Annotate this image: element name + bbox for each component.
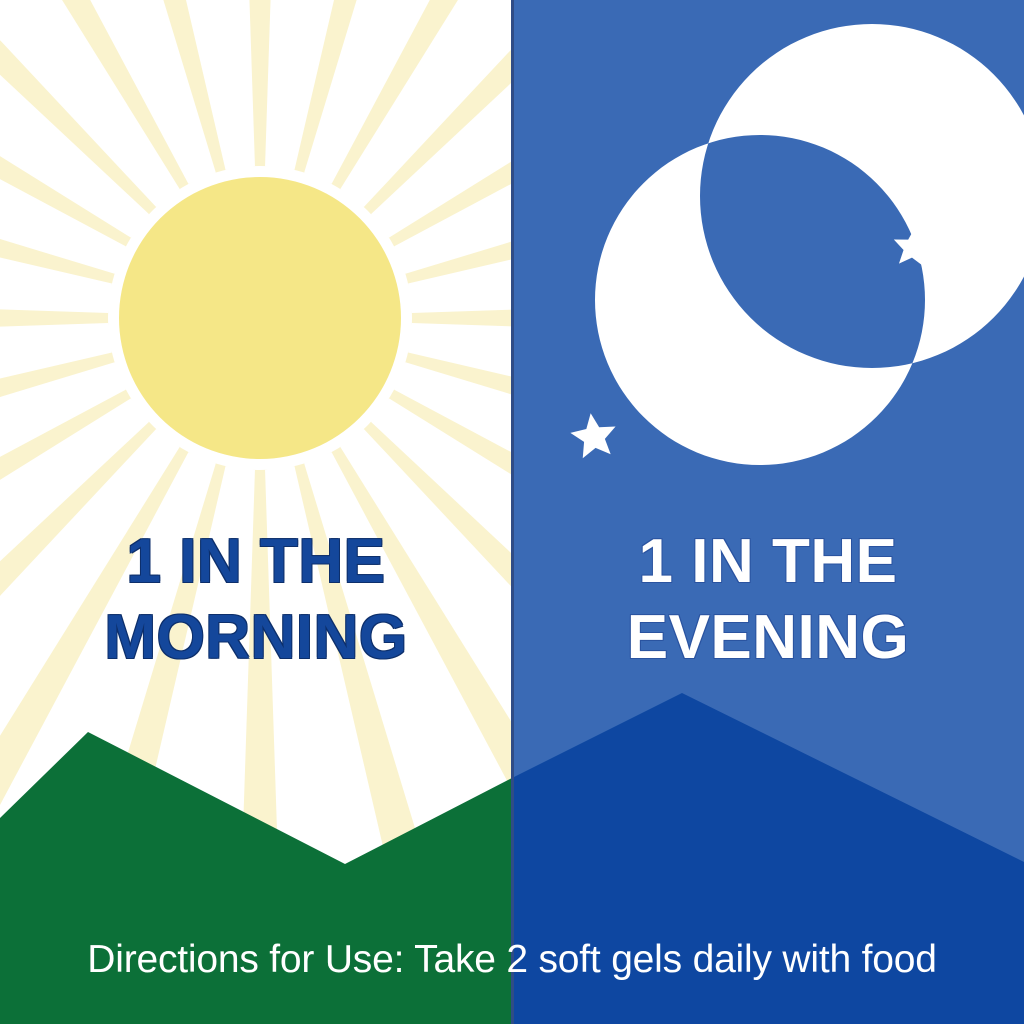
sun-icon [119, 177, 401, 459]
panel-divider [511, 0, 514, 1024]
illustration-canvas [0, 0, 1024, 1024]
evening-panel [512, 0, 1024, 1024]
infographic-root: 1 IN THE MORNING 1 IN THE EVENING Direct… [0, 0, 1024, 1024]
